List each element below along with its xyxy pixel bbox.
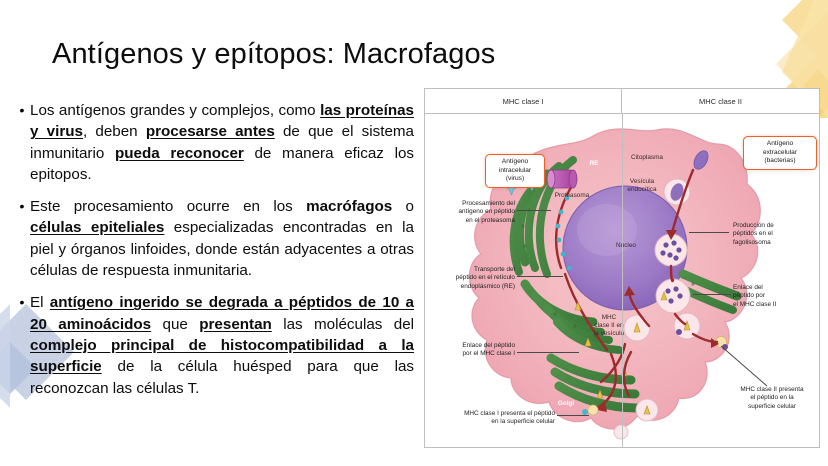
list-item: • Este procesamiento ocurre en los macró…: [14, 196, 414, 281]
list-item: • Los antígenos grandes y complejos, com…: [14, 100, 414, 185]
text-run: que: [151, 316, 199, 333]
text-run: Los antígenos grandes y complejos, como: [30, 102, 320, 119]
bullet-marker: •: [14, 292, 30, 313]
antigen-processing-diagram: MHC clase I MHC clase II: [424, 88, 820, 448]
diagram-header: MHC clase I MHC clase II: [425, 89, 819, 114]
text-run: El: [30, 294, 50, 311]
label-procesamiento-antigeno: Procesamiento del antígeno en péptido en…: [427, 200, 515, 225]
page-title: Antígenos y epítopos: Macrofagos: [52, 36, 495, 72]
text-run: procesarse antes: [146, 123, 275, 140]
label-mhc-ii-vesicula: MHC clase II en la vesícula: [587, 314, 631, 339]
callout-antigeno-intracelular[interactable]: Antígeno intracelular (virus): [485, 154, 545, 188]
label-nucleo: Núcleo: [605, 242, 647, 250]
proteasome-shape: [547, 170, 577, 188]
label-enlace-mhc-ii: Enlace del péptido por el MHC clase II: [733, 284, 811, 309]
leader-line: [557, 415, 589, 416]
diagram-center-divider: [622, 114, 623, 447]
text-run: células epiteliales: [30, 219, 164, 236]
diagram-header-mhc-class-ii: MHC clase II: [622, 89, 819, 113]
label-golgi: Golgi: [551, 400, 581, 408]
label-produccion-peptidos: Producción de péptidos en el fagolisosom…: [733, 222, 811, 247]
label-mhc-i-superficie: MHC clase I presenta el péptido en la su…: [425, 410, 555, 427]
list-item: • El antígeno ingerido se degrada a pépt…: [14, 292, 414, 398]
bullet-marker: •: [14, 100, 30, 121]
label-proteasoma: Proteasoma: [551, 192, 593, 200]
leader-line: [689, 232, 729, 233]
leader-line: [517, 276, 563, 277]
bullet-list: • Los antígenos grandes y complejos, com…: [14, 100, 414, 410]
label-re: RE: [581, 160, 607, 168]
bullet-text: El antígeno ingerido se degrada a péptid…: [30, 292, 414, 398]
diagram-header-mhc-class-i: MHC clase I: [425, 89, 622, 113]
label-vesicula-endocitica: Vesícula endocítica: [621, 178, 663, 194]
text-run: Este procesamiento ocurre en los: [30, 198, 306, 215]
text-run: o: [392, 198, 414, 215]
label-citoplasma: Citoplasma: [625, 154, 669, 162]
label-enlace-mhc-i: Enlace del péptido por el MHC clase I: [427, 342, 515, 359]
text-run: macrófagos: [306, 198, 392, 215]
text-run: presentan: [199, 316, 272, 333]
label-transporte-peptido: Transporte del péptido en el retículo en…: [427, 266, 515, 291]
bullet-text: Los antígenos grandes y complejos, como …: [30, 100, 414, 185]
bullet-text: Este procesamiento ocurre en los macrófa…: [30, 196, 414, 281]
text-run: las moléculas del: [272, 316, 414, 333]
leader-line: [517, 352, 579, 353]
callout-antigeno-extracelular[interactable]: Antígeno extracelular (bacterias): [743, 136, 817, 170]
text-run: pueda reconocer: [115, 145, 244, 162]
leader-line: [693, 294, 731, 295]
bullet-marker: •: [14, 196, 30, 217]
leader-line: [517, 210, 551, 211]
diagram-body: RE Núcleo Golgi Citoplasma Vesícula endo…: [425, 114, 819, 447]
leader-line-diagonal: [717, 346, 777, 390]
text-run: , deben: [83, 123, 146, 140]
